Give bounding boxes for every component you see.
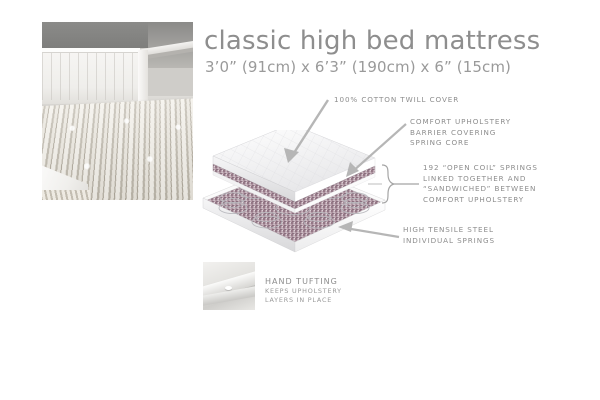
- callout-line: SPRING CORE: [410, 138, 511, 149]
- photo-bed-post: [138, 50, 148, 108]
- photo-left-margin: [20, 22, 42, 200]
- callout-line: KEEPS UPHOLSTERY: [265, 287, 342, 296]
- product-dimensions: 3’0” (91cm) x 6’3” (190cm) x 6” (15cm): [205, 58, 585, 76]
- callout-line: LAYERS IN PLACE: [265, 296, 342, 305]
- callout-line: 192 “OPEN COIL” SPRINGS: [423, 163, 538, 174]
- product-photo: [20, 22, 193, 200]
- callout-line: LINKED TOGETHER AND: [423, 174, 538, 185]
- callout-line: HIGH TENSILE STEEL: [403, 225, 495, 236]
- callout-line: 100% COTTON TWILL COVER: [334, 95, 459, 105]
- callout-line: “SANDWICHED” BETWEEN: [423, 184, 538, 195]
- photo-headboard-panelling: [42, 52, 140, 100]
- callout-line: COMFORT UPHOLSTERY: [423, 195, 538, 206]
- callout-line: BARRIER COVERING: [410, 128, 511, 139]
- photo-headboard-rail: [42, 48, 140, 53]
- callout-line: COMFORT UPHOLSTERY: [410, 117, 511, 128]
- poster-canvas: classic high bed mattress 3’0” (91cm) x …: [0, 0, 600, 400]
- callout-hand-tufting: HAND TUFTING KEEPS UPHOLSTERY LAYERS IN …: [265, 276, 342, 305]
- mattress-cutaway-diagram: [195, 130, 415, 270]
- callout-line: INDIVIDUAL SPRINGS: [403, 236, 495, 247]
- callout-open-coil-springs: 192 “OPEN COIL” SPRINGS LINKED TOGETHER …: [423, 163, 538, 205]
- callout-heading: HAND TUFTING: [265, 276, 342, 287]
- callout-cotton-twill-cover: 100% COTTON TWILL COVER: [334, 95, 459, 105]
- callout-high-tensile-steel: HIGH TENSILE STEEL INDIVIDUAL SPRINGS: [403, 225, 495, 246]
- swatch-tuft-button: [225, 286, 232, 290]
- page-title: classic high bed mattress: [204, 26, 584, 56]
- hand-tufting-swatch: [203, 262, 255, 310]
- callout-comfort-upholstery: COMFORT UPHOLSTERY BARRIER COVERING SPRI…: [410, 117, 511, 149]
